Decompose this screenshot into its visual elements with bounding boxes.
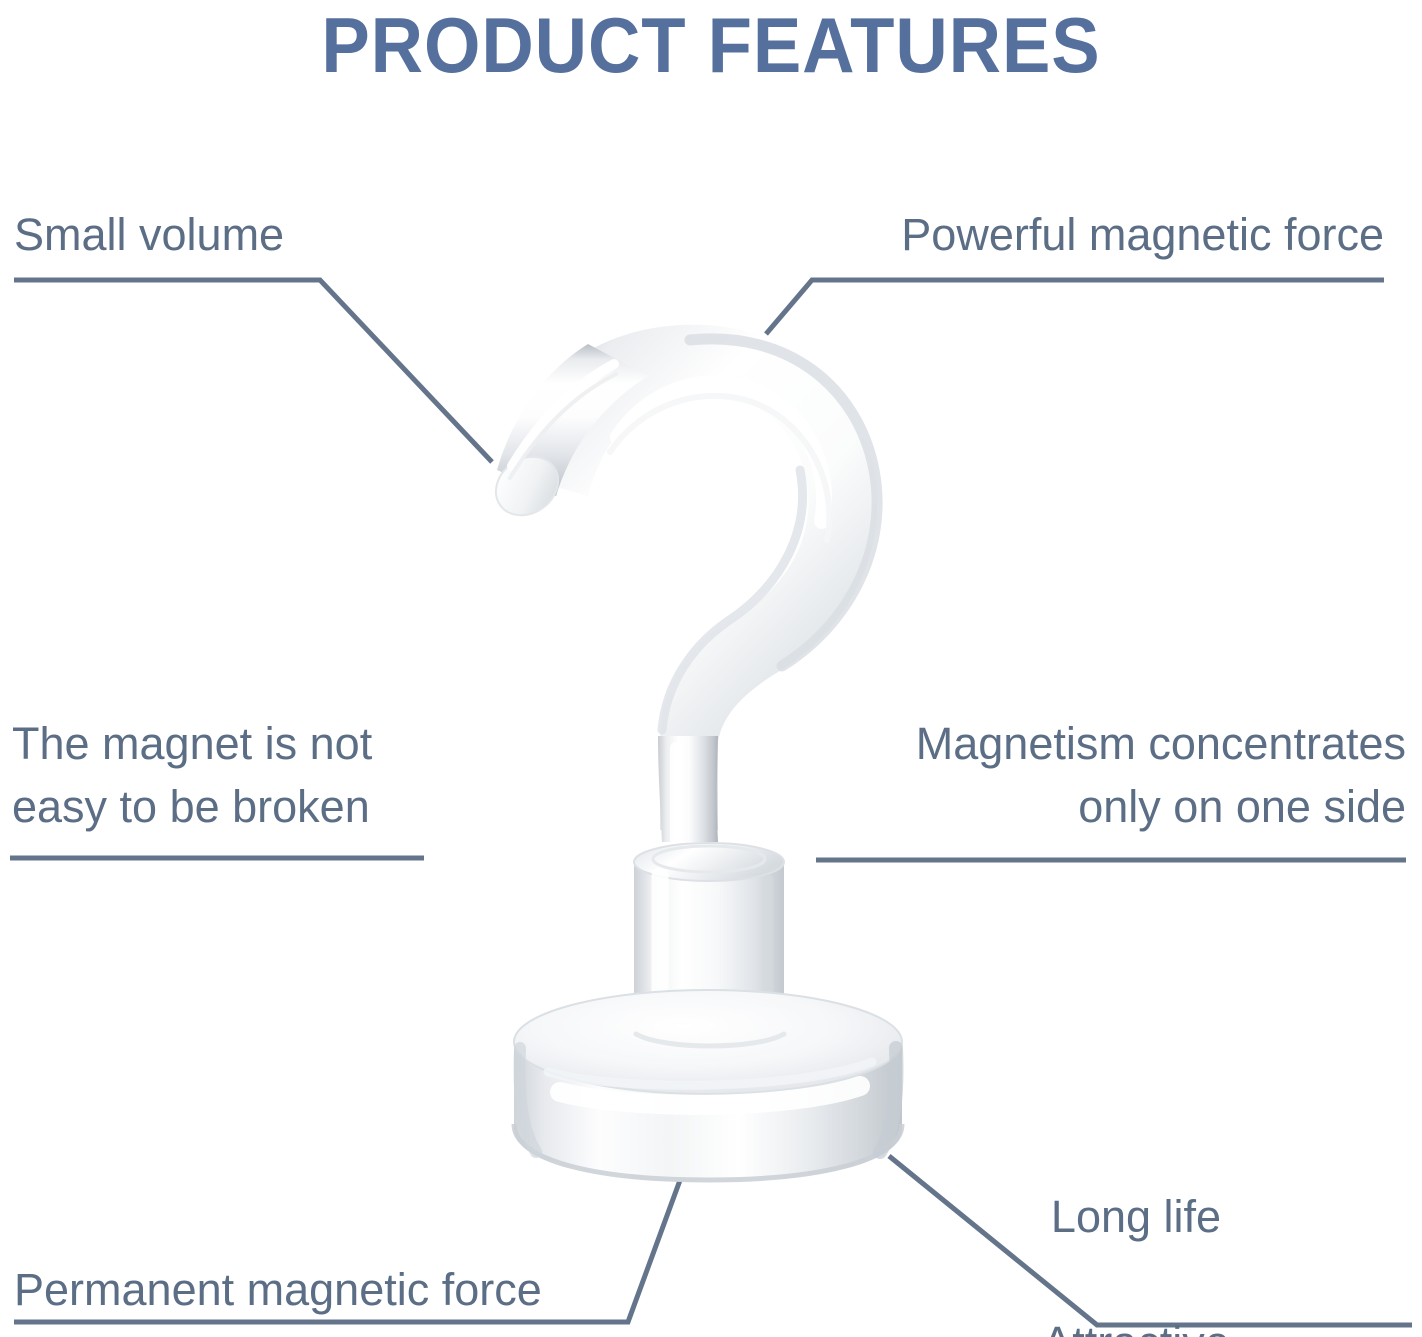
leader-powerful-magnetic-force	[766, 280, 1384, 334]
callout-label-permanent-magnetic-force: Permanent magnetic force	[14, 1258, 694, 1321]
leader-small-volume	[14, 280, 492, 462]
callout-label-small-volume: Small volume	[14, 203, 634, 266]
callout-label-magnetism-one-side: Magnetism concentrates only on one side	[786, 712, 1406, 838]
callout-label-powerful-magnetic-force: Powerful magnetic force	[684, 203, 1384, 266]
callout-label-magnet-not-broken: The magnet is not easy to be broken	[12, 712, 472, 838]
callout-leader-lines	[0, 0, 1422, 1337]
callout-label-long-life-attractive: Long life Attractive	[926, 1185, 1346, 1337]
product-features-infographic: PRODUCT FEATURES	[0, 0, 1422, 1337]
